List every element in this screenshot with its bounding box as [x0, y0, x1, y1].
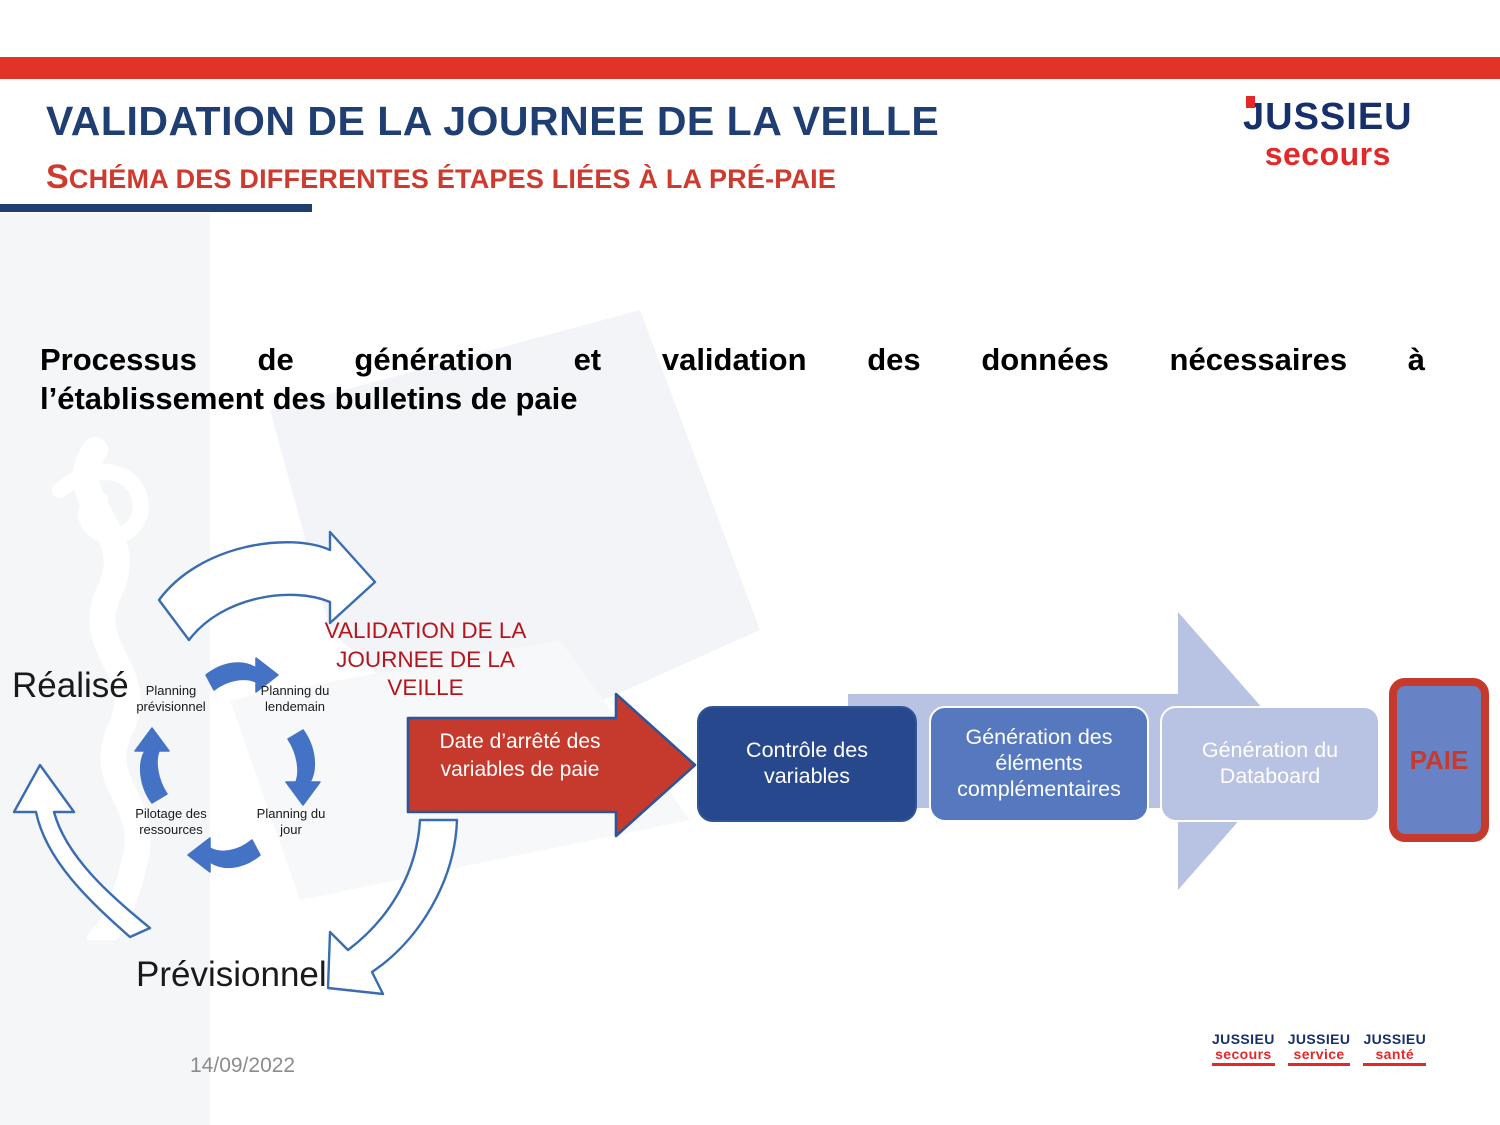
lead-line-2: l’établissement des bulletins de paie: [40, 379, 1425, 418]
footer-logo-service: JUSSIEU service: [1288, 1032, 1351, 1078]
brand-logo-line1: JUSSIEU: [1243, 96, 1413, 138]
process-box-controle-variables[interactable]: Contrôle des variables: [697, 706, 917, 822]
brand-logo-line2: secours: [1243, 138, 1413, 170]
footer-logo-sante-rule: [1363, 1063, 1426, 1066]
subtitle-rest: CHÉMA DES DIFFERENTES ÉTAPES LIÉES À LA …: [69, 164, 836, 194]
cycle-label-previsionnel: Prévisionnel: [136, 955, 327, 995]
footer-logo-secours-line2: secours: [1212, 1047, 1275, 1062]
process-result-paie[interactable]: PAIE: [1389, 678, 1489, 842]
cycle-step-planning-jour: Planning du jour: [248, 806, 334, 838]
lead-paragraph: Processus de génération et validation de…: [40, 340, 1425, 419]
date-arrete-arrow-label: Date d’arrêté des variables de paie: [416, 728, 624, 784]
top-accent-bar: [0, 57, 1500, 79]
footer-logo-sante-line1: JUSSIEU: [1363, 1032, 1426, 1047]
footer-logo-service-line1: JUSSIEU: [1288, 1032, 1351, 1047]
footer-logo-service-rule: [1288, 1063, 1351, 1066]
footer-brand-logos: JUSSIEU secours JUSSIEU service JUSSIEU …: [1212, 1032, 1462, 1078]
title-underline-rule: [0, 204, 312, 212]
cycle-step-planning-previsionnel: Planning prévisionnel: [128, 683, 214, 715]
process-box-generation-databoard[interactable]: Génération du Databoard: [1160, 706, 1380, 822]
slide-date: 14/09/2022: [190, 1054, 295, 1078]
lead-line-1: Processus de génération et validation de…: [40, 340, 1425, 379]
cycle-step-pilotage-ressources: Pilotage des ressources: [128, 806, 214, 838]
brand-logo-wordmark: JUSSIEU: [1243, 98, 1413, 136]
brand-logo-accent-icon: [1246, 96, 1255, 108]
subtitle-initial-cap: S: [46, 158, 69, 196]
process-box-generation-elements[interactable]: Génération des éléments complémentaires: [929, 706, 1149, 822]
footer-logo-sante-line2: santé: [1363, 1047, 1426, 1062]
page-subtitle: SCHÉMA DES DIFFERENTES ÉTAPES LIÉES À LA…: [46, 158, 836, 197]
slide: VALIDATION DE LA JOURNEE DE LA VEILLE SC…: [0, 0, 1500, 1125]
footer-logo-secours-rule: [1212, 1063, 1275, 1066]
brand-logo-header: JUSSIEU secours: [1243, 98, 1413, 170]
cycle-label-realise: Réalisé: [12, 666, 129, 706]
page-title: VALIDATION DE LA JOURNEE DE LA VEILLE: [46, 98, 939, 145]
footer-logo-sante: JUSSIEU santé: [1363, 1032, 1426, 1078]
footer-logo-service-line2: service: [1288, 1047, 1351, 1062]
footer-logo-secours-line1: JUSSIEU: [1212, 1032, 1275, 1047]
footer-logo-secours: JUSSIEU secours: [1212, 1032, 1275, 1078]
